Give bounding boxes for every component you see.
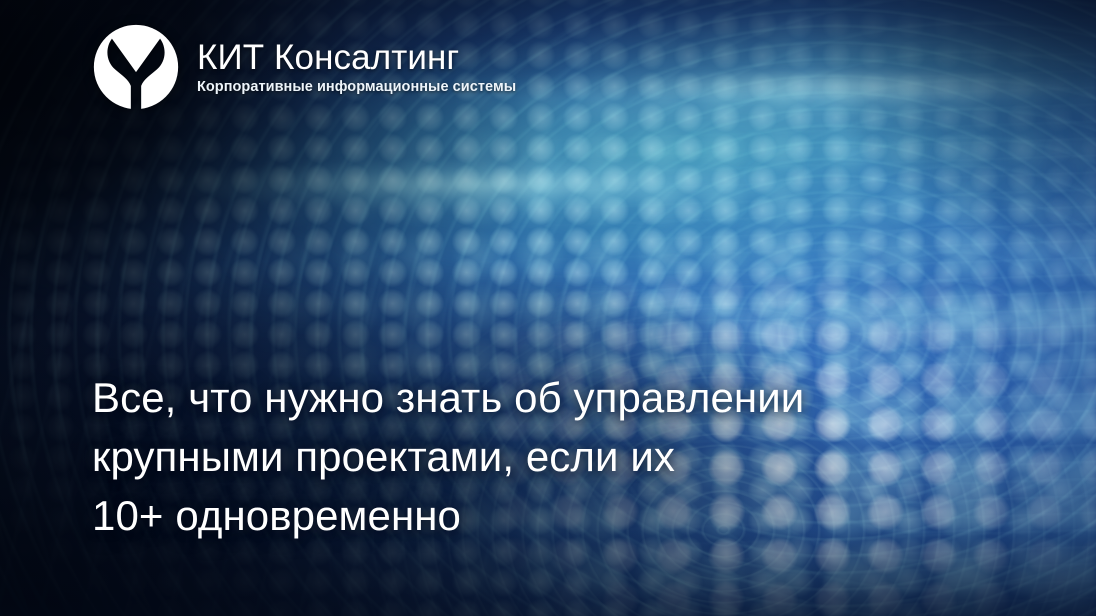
title-slide: КИТ Консалтинг Корпоративные информацион… (0, 0, 1096, 616)
brand-tagline: Корпоративные информационные системы (197, 79, 516, 96)
slide-title-line-1: Все, что нужно знать об управлении (92, 368, 892, 427)
slide-title-line-3: 10+ одновременно (92, 486, 892, 545)
kit-whale-tail-circle-logo-icon (93, 24, 179, 110)
slide-title-line-2: крупными проектами, если их (92, 427, 892, 486)
slide-title: Все, что нужно знать об управлении крупн… (92, 368, 892, 545)
brand-text: КИТ Консалтинг Корпоративные информацион… (197, 37, 516, 96)
brand-name: КИТ Консалтинг (197, 39, 516, 76)
brand-lockup: КИТ Консалтинг Корпоративные информацион… (93, 24, 516, 110)
